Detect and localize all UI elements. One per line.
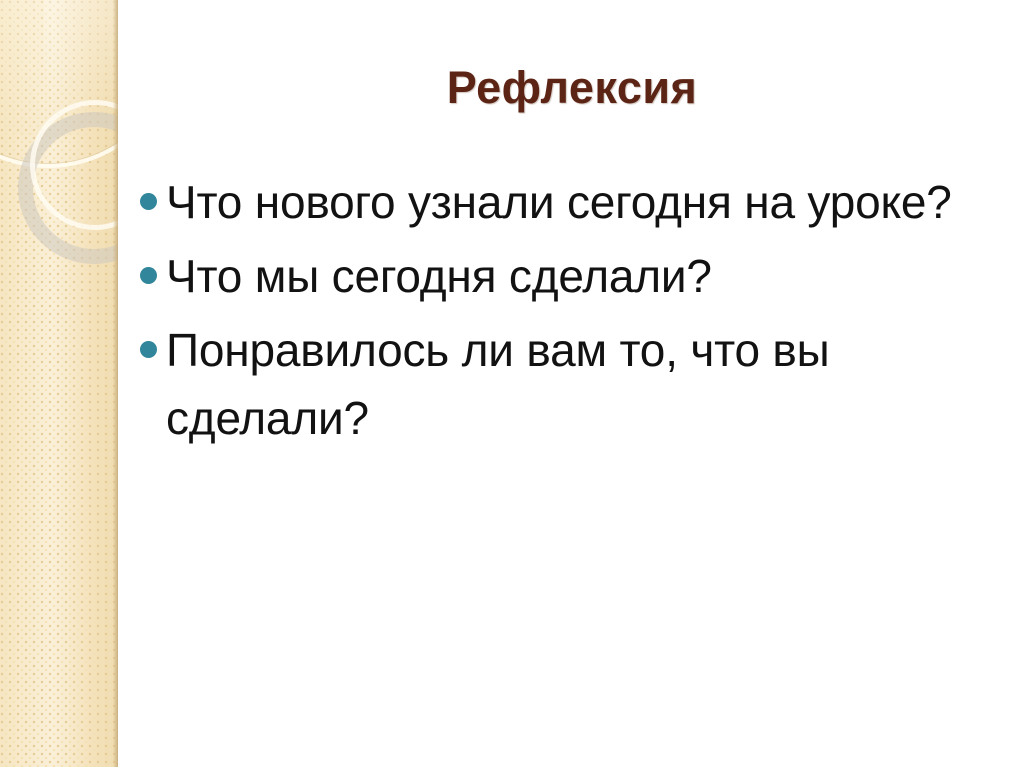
list-item-label: Понравилось ли вам то, что вы сделали? — [166, 316, 966, 452]
bullet-list: Что нового узнали сегодня на уроке? Что … — [140, 168, 1016, 458]
slide-title: Рефлексия — [130, 60, 1014, 116]
bullet-dot-icon — [140, 267, 157, 284]
list-item: Понравилось ли вам то, что вы сделали? — [140, 316, 1016, 452]
list-item-label: Что мы сегодня сделали? — [166, 242, 1016, 310]
presentation-slide: Рефлексия Что нового узнали сегодня на у… — [0, 0, 1024, 767]
list-item: Что мы сегодня сделали? — [140, 242, 1016, 310]
list-item: Что нового узнали сегодня на уроке? — [140, 168, 1016, 236]
list-item-label: Что нового узнали сегодня на уроке? — [166, 168, 984, 236]
bullet-dot-icon — [140, 341, 157, 358]
bullet-dot-icon — [140, 193, 157, 210]
sidebar-edge-divider — [113, 0, 118, 767]
decorative-sidebar — [0, 0, 118, 767]
